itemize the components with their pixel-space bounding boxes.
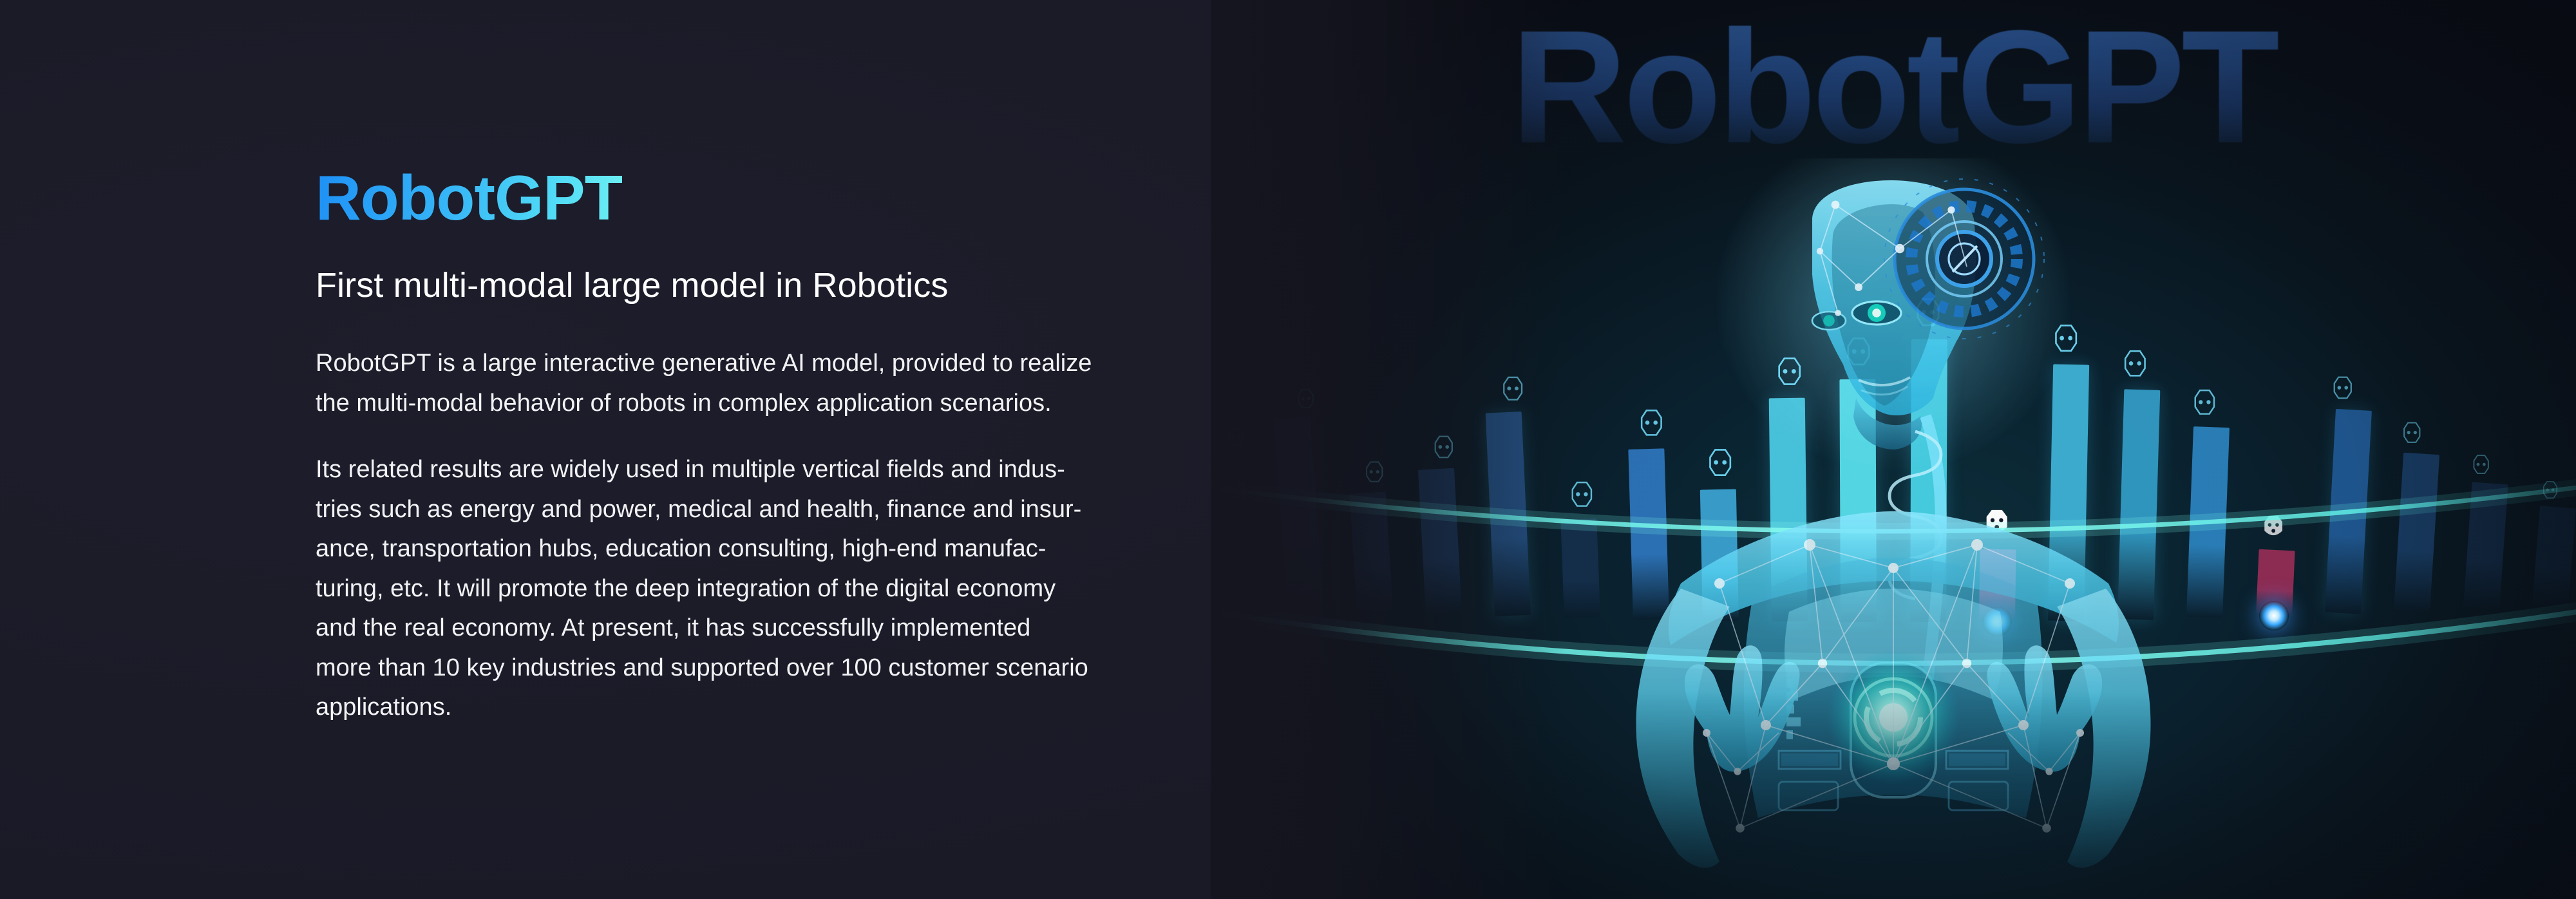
paragraph-line: turing, etc. It will promote the deep in… [316,569,1021,609]
hero-illustration: RobotGPT [1211,0,2576,899]
paragraph-line: RobotGPT is a large interactive generati… [316,344,1021,384]
robotgpt-hero-banner: RobotGPT First multi-modal large model i… [0,0,2576,899]
paragraph-line: and the real economy. At present, it has… [316,609,1021,648]
robot-head-hex-icon [1294,388,1318,410]
chart-bar [2532,506,2576,607]
holographic-robot-figure [1513,158,2273,899]
paragraph-line: Its related results are widely used in m… [316,450,1021,490]
chart-bar [1274,417,1324,609]
paragraph-line: the multi-modal behavior of robots in co… [316,384,1021,424]
description-body: RobotGPT is a large interactive generati… [316,344,1021,728]
chart-bar [1349,491,1392,612]
paragraph-line: applications. [316,688,1021,728]
intro-text-column: RobotGPT First multi-modal large model i… [316,166,1217,728]
chart-bar [1211,453,1255,607]
description-paragraph-2: Its related results are widely used in m… [316,450,1021,728]
page-subtitle: First multi-modal large model in Robotic… [316,265,1217,305]
chart-bar [2325,409,2372,614]
robot-head-hex-icon [2539,480,2561,500]
chart-bar [1418,468,1462,614]
paragraph-line: tries such as energy and power, medical … [316,490,1021,530]
chart-bar [2394,452,2439,612]
paragraph-line: more than 10 key industries and supporte… [316,648,1021,688]
paragraph-line: ance, transportation hubs, education con… [316,529,1021,569]
robot-head-hex-icon [2469,453,2493,475]
page-title: RobotGPT [316,166,622,229]
robot-head-hex-icon [1430,434,1458,460]
chart-bar [2463,482,2508,609]
robot-head-hex-icon [1361,460,1387,484]
robot-head-hex-icon [1226,427,1247,447]
description-paragraph-1: RobotGPT is a large interactive generati… [316,344,1021,423]
robot-head-hex-icon [2329,375,2357,401]
robot-head-hex-icon [2399,421,2425,444]
